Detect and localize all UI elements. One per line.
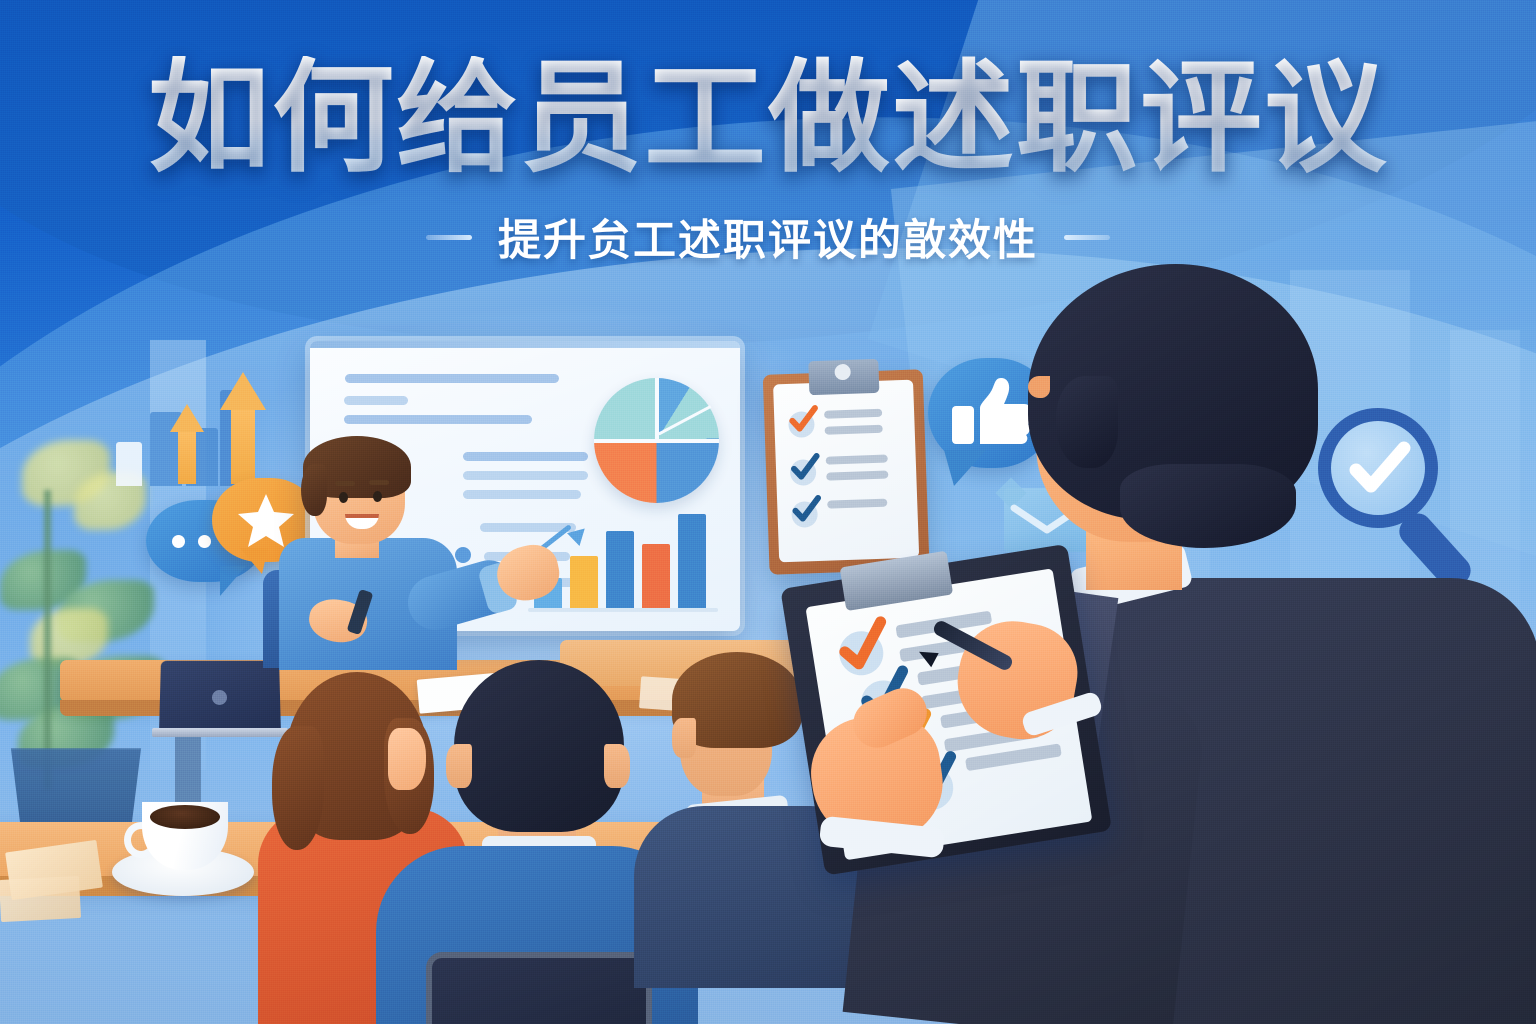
businessman-nose: [1028, 376, 1050, 398]
growth-arrow-icon-large: [220, 368, 266, 484]
growth-arrow-icon-small: [170, 406, 204, 484]
audience-man-blue-hair: [454, 660, 624, 832]
growth-bar-1: [116, 442, 142, 486]
presenter-brow-left: [335, 481, 355, 486]
page-title: 如何给员工做述职评议: [0, 56, 1536, 180]
whiteboard-bar-chart: [528, 500, 724, 618]
page-subtitle: 提升贠工述职评议的㪟效性: [498, 206, 1038, 268]
presenter-brow-right: [369, 480, 389, 485]
coffee-liquid: [150, 805, 220, 829]
bar-5: [678, 514, 706, 608]
poster-canvas: 如何给员工做述职评议 提升贠工述职评议的㪟效性: [0, 0, 1536, 1024]
subtitle-dash-right: [1064, 235, 1110, 240]
whiteboard-top-edge: [310, 341, 740, 348]
audience-chair[interactable]: [426, 952, 652, 1024]
foreground-businessman: [800, 250, 1536, 1024]
presenter-man: [265, 418, 545, 668]
subtitle-row: 提升贠工述职评议的㪟效性: [0, 206, 1536, 268]
coffee-cup: [108, 790, 258, 900]
presenter-eye-left: [339, 492, 348, 503]
bar-3: [606, 531, 634, 608]
paper-note: [0, 876, 81, 922]
bar-4: [642, 544, 670, 608]
presenter-eye-right: [373, 491, 382, 502]
businessman-hair-nape: [1120, 464, 1296, 548]
subtitle-dash-left: [426, 235, 472, 240]
businessman-hair-sideburn: [1056, 376, 1118, 468]
presenter-hair-side: [301, 464, 327, 516]
whiteboard-text-line: [344, 396, 408, 405]
title-block: 如何给员工做述职评议 提升贠工述职评议的㪟效性: [0, 56, 1536, 268]
bar-2: [570, 556, 598, 608]
whiteboard-pie-chart: [594, 378, 719, 503]
whiteboard-text-line: [345, 374, 559, 383]
